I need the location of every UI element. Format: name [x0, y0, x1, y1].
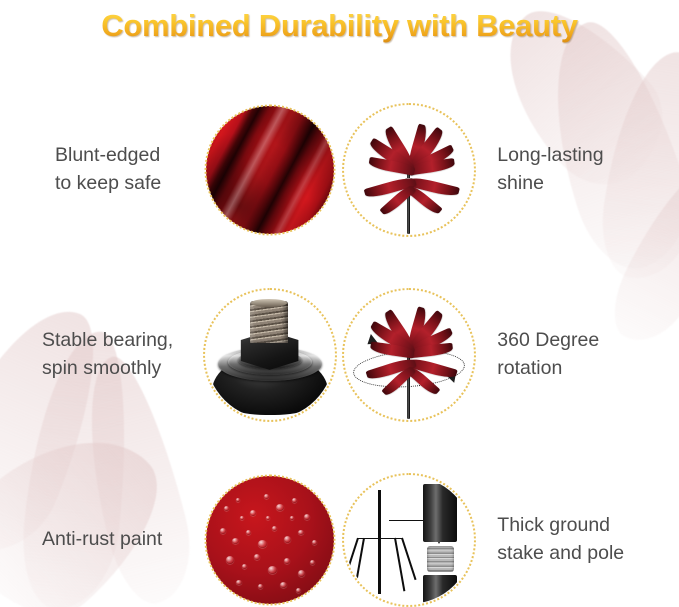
dotted-ring-icon	[342, 473, 476, 607]
feature-label-line1: Anti-rust paint	[42, 526, 194, 554]
feature-label-anti-rust-paint: Anti-rust paint	[0, 526, 200, 554]
feature-label-line1: Blunt-edged	[55, 142, 194, 170]
title-bar: Combined Durability with Beauty	[0, 0, 679, 52]
feature-label-line1: 360 Degree	[497, 327, 679, 355]
feature-row-3: Anti-rust paint	[0, 447, 679, 607]
feature-label-long-lasting-shine: Long-lasting shine	[479, 142, 679, 197]
feature-label-line1: Thick ground	[497, 512, 679, 540]
feature-label-line2: to keep safe	[55, 170, 194, 198]
feature-label-thick-ground-stake: Thick ground stake and pole	[479, 512, 679, 567]
feature-label-line2: rotation	[497, 355, 679, 383]
image-slot-stake-and-pole	[340, 460, 480, 607]
feature-row-2: Stable bearing, spin smoothly	[0, 262, 679, 447]
feature-label-blunt-edged: Blunt-edged to keep safe	[0, 142, 200, 197]
dotted-ring-icon	[203, 288, 337, 422]
dotted-ring-icon	[342, 288, 476, 422]
dotted-ring-icon	[204, 104, 335, 235]
feature-label-360-rotation: 360 Degree rotation	[479, 327, 679, 382]
page-title: Combined Durability with Beauty	[101, 8, 577, 44]
image-slot-water-droplets	[200, 460, 340, 607]
feature-label-line2: shine	[497, 170, 679, 198]
image-slot-bearing	[200, 275, 340, 435]
image-slot-red-pole	[200, 90, 340, 250]
image-slot-360-rotation	[340, 275, 480, 435]
feature-label-stable-bearing: Stable bearing, spin smoothly	[0, 327, 200, 382]
feature-label-line1: Long-lasting	[497, 142, 679, 170]
dotted-ring-icon	[342, 103, 476, 237]
image-slot-spinner-shine	[340, 90, 480, 250]
feature-label-line2: spin smoothly	[42, 355, 194, 383]
dotted-ring-icon	[204, 474, 335, 605]
feature-label-line2: stake and pole	[497, 540, 679, 568]
feature-row-1: Blunt-edged to keep safe	[0, 77, 679, 262]
feature-label-line1: Stable bearing,	[42, 327, 194, 355]
